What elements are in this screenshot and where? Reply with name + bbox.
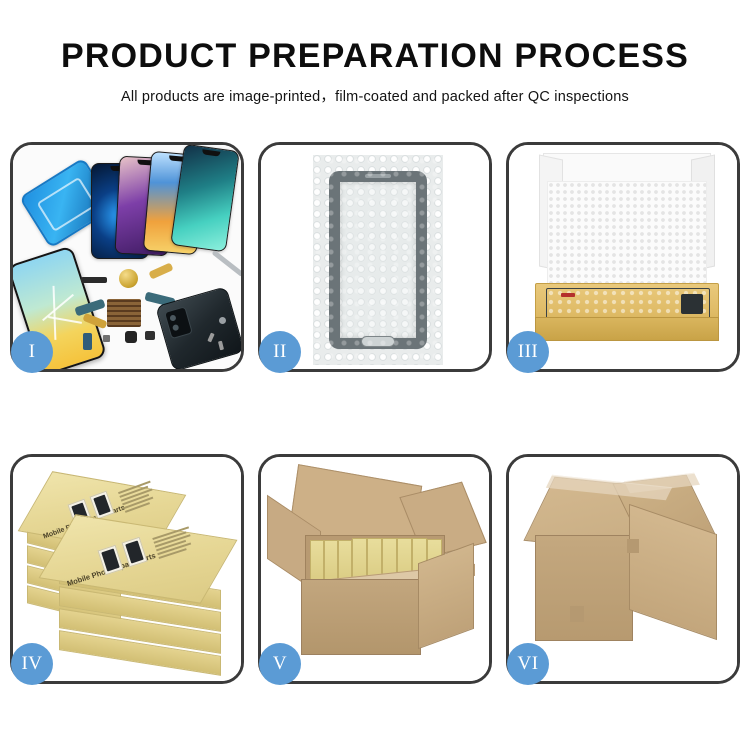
step-panel-1: I xyxy=(10,142,244,372)
part-small-component-1 xyxy=(103,335,110,342)
phones-and-parts-illustration xyxy=(13,145,241,369)
step-badge-2: II xyxy=(259,331,301,373)
step-image-5 xyxy=(261,457,489,681)
step-badge-1: I xyxy=(11,331,53,373)
part-camera-module xyxy=(125,331,137,343)
step-badge-6: VI xyxy=(507,643,549,685)
bubble-wrapped-screen-photo xyxy=(261,145,489,369)
bubble-wrap-overlay xyxy=(313,155,443,365)
foam-box-photo xyxy=(509,145,737,369)
steps-grid: I II xyxy=(10,142,740,684)
carton-front-face xyxy=(535,535,633,641)
page-subtitle: All products are image-printed，film-coat… xyxy=(0,85,750,106)
carton-handle-notch-side xyxy=(627,539,639,553)
step-badge-3: III xyxy=(507,331,549,373)
box-stack: Mobile Phone Spare Parts Mobile Phone Sp… xyxy=(21,473,235,669)
carton-front-face xyxy=(301,579,421,655)
open-carton-photo xyxy=(261,457,489,681)
part-chip-array xyxy=(107,299,141,327)
sealed-carton-photo xyxy=(509,457,737,681)
step-image-2 xyxy=(261,145,489,369)
step-panel-5: V xyxy=(258,454,492,684)
step-panel-2: II xyxy=(258,142,492,372)
wrapped-screen-in-box xyxy=(546,288,710,320)
stacked-boxes-photo: Mobile Phone Spare Parts Mobile Phone Sp… xyxy=(13,457,241,681)
page-title: PRODUCT PREPARATION PROCESS xyxy=(0,36,750,76)
bubble-wrap-sheet xyxy=(313,155,443,365)
step-badge-5: V xyxy=(259,643,301,685)
step-image-1 xyxy=(13,145,241,369)
step-badge-4: IV xyxy=(11,643,53,685)
step-panel-6: VI xyxy=(506,454,740,684)
part-coil xyxy=(119,269,138,288)
part-speaker xyxy=(81,277,107,283)
product-preparation-infographic: PRODUCT PREPARATION PROCESS All products… xyxy=(0,0,750,750)
part-flex-cable-4 xyxy=(148,262,173,279)
step-image-6 xyxy=(509,457,737,681)
carton-handle-notch-front xyxy=(570,606,584,622)
step-image-3 xyxy=(509,145,737,369)
repair-tool-tweezers xyxy=(211,250,241,277)
foam-lining xyxy=(547,181,707,291)
header: PRODUCT PREPARATION PROCESS All products… xyxy=(0,0,750,106)
repair-tool-screwdriver xyxy=(219,317,226,324)
part-button xyxy=(145,331,155,340)
step-panel-3: III xyxy=(506,142,740,372)
step-image-4: Mobile Phone Spare Parts Mobile Phone Sp… xyxy=(13,457,241,681)
part-battery xyxy=(83,333,92,350)
box-front-wall xyxy=(535,317,719,341)
step-panel-4: Mobile Phone Spare Parts Mobile Phone Sp… xyxy=(10,454,244,684)
